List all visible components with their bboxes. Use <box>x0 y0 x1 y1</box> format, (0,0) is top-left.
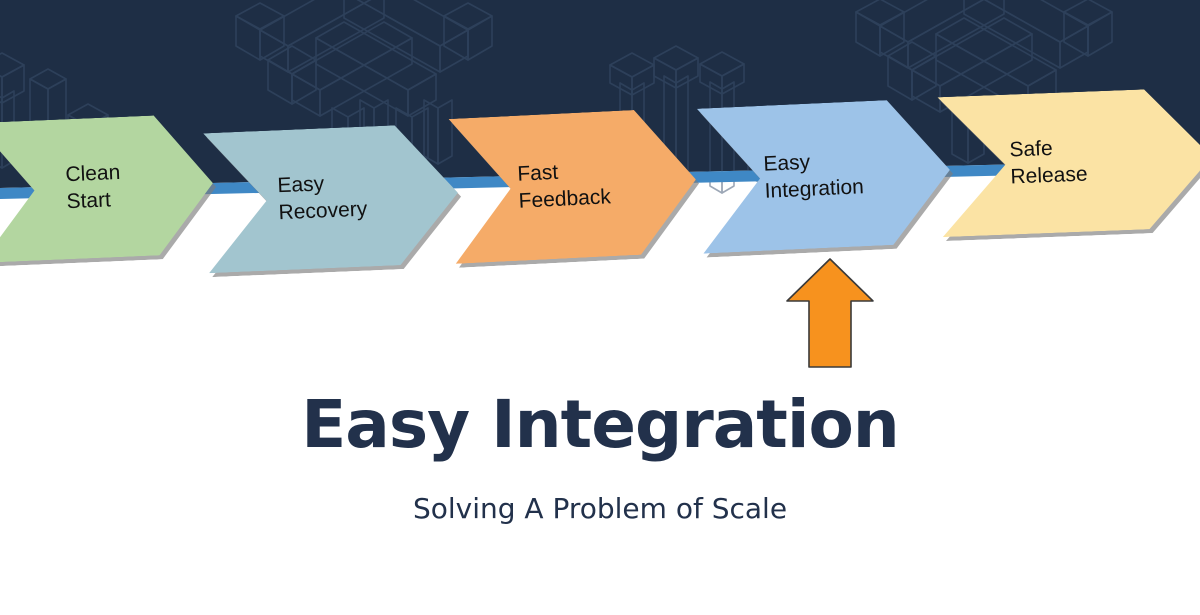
chevron-easy-recovery[interactable]: Easy Recovery <box>203 123 461 273</box>
chevron-fast-feedback[interactable]: Fast Feedback <box>449 107 700 264</box>
chevron-clean-start[interactable]: Clean Start <box>0 113 216 263</box>
chevron-body <box>697 97 953 253</box>
chevron-body <box>203 123 461 273</box>
slide-canvas: Clean Start Easy Recovery Fast Feedback … <box>0 0 1200 615</box>
up-arrow-highlight-icon <box>785 257 875 369</box>
page-subtitle: Solving A Problem of Scale <box>0 492 1200 525</box>
page-title: Easy Integration <box>0 386 1200 463</box>
chevron-safe-release[interactable]: Safe Release <box>937 87 1200 237</box>
chevron-body <box>937 87 1200 237</box>
chevron-easy-integration[interactable]: Easy Integration <box>697 97 953 253</box>
chevron-body <box>0 113 216 263</box>
chevron-body <box>449 107 700 264</box>
